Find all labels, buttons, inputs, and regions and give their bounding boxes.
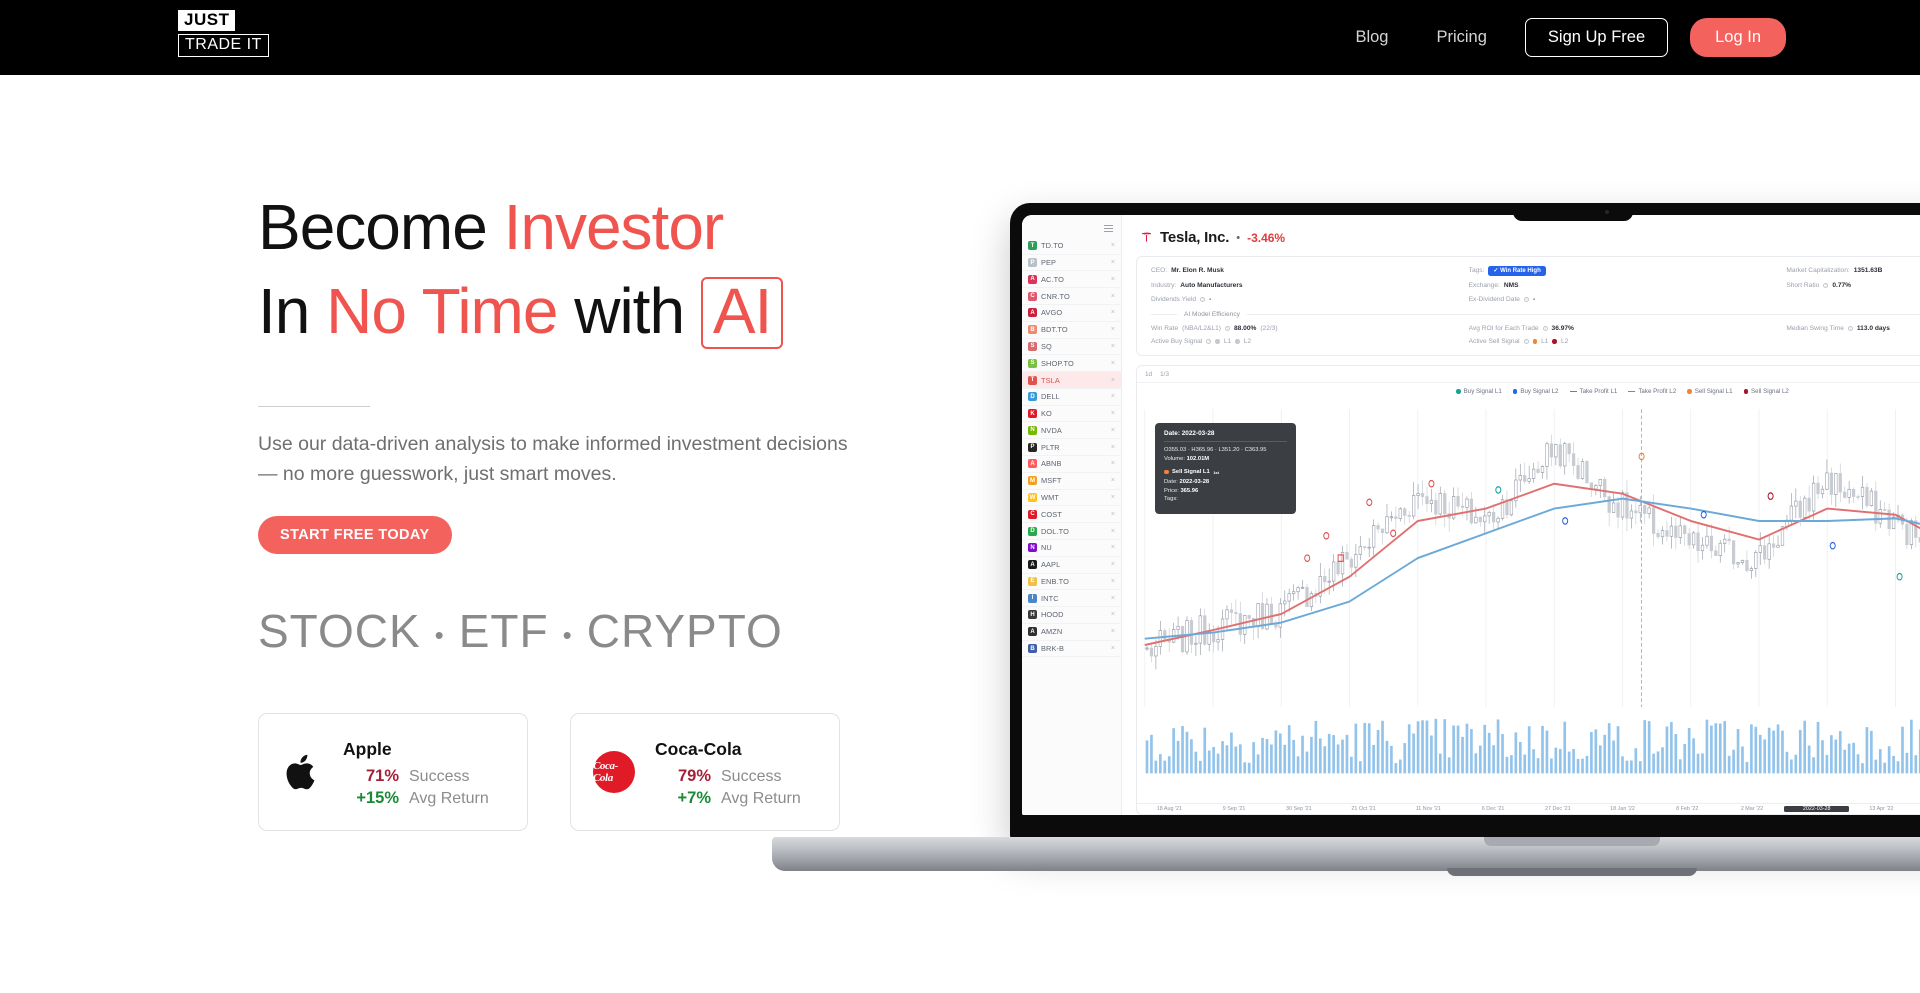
- ticker-logo-icon: K: [1028, 409, 1037, 418]
- legend-item-sell-signal-l1[interactable]: Sell Signal L1: [1687, 388, 1732, 395]
- ex-dividend-date-value: -: [1533, 296, 1535, 303]
- tooltip-signal-date-value: 2022-03-28: [1179, 479, 1209, 485]
- stat-card-title: Apple: [343, 739, 489, 760]
- x-axis-tick: 27 Dec '21: [1525, 806, 1590, 812]
- sidebar-toolbar: [1022, 221, 1121, 238]
- coca-cola-wordmark: Coca-Cola: [593, 760, 635, 784]
- chart-interval-label[interactable]: 1d: [1145, 371, 1152, 378]
- watchlist-item-dol-to[interactable]: DDOL.TO×: [1022, 523, 1121, 540]
- x-axis-tick: 18 Aug '21: [1137, 806, 1202, 812]
- tooltip-volume: Volume: 102.01M: [1164, 456, 1287, 462]
- stat-card-body: Coca-Cola 79% Success +7% Avg Return: [655, 737, 801, 808]
- watchlist-item-shop-to[interactable]: SSHOP.TO×: [1022, 355, 1121, 372]
- page-title: Become Investor In No Time with AI: [258, 195, 878, 349]
- ticker-symbol-label: NVDA: [1041, 426, 1107, 435]
- tooltip-signal-price-label: Price:: [1164, 488, 1179, 494]
- ceo-label: CEO:: [1151, 267, 1167, 274]
- hero-subtitle: Use our data-driven analysis to make inf…: [258, 429, 848, 489]
- bullet-separator-icon: •: [549, 620, 587, 650]
- ai-model-efficiency-heading: AI Model Efficiency: [1151, 311, 1920, 318]
- stat-card-title: Coca-Cola: [655, 739, 801, 760]
- success-value: 71%: [343, 767, 399, 786]
- remove-ticker-icon[interactable]: ×: [1111, 427, 1115, 434]
- watchlist-item-ko[interactable]: KKO×: [1022, 406, 1121, 423]
- ex-dividend-date-field: Ex-Dividend Date ? -: [1469, 296, 1777, 303]
- dashboard-main: Tesla, Inc. • -3.46% CEO: Mr. Elon R. Mu…: [1122, 215, 1920, 815]
- chart-interval-controls: 1d 1/3: [1145, 371, 1169, 378]
- help-icon[interactable]: ?: [1524, 339, 1529, 344]
- watchlist-item-nu[interactable]: NNU×: [1022, 540, 1121, 557]
- win-rate-extra: (22/3): [1260, 325, 1277, 332]
- company-info-grid: CEO: Mr. Elon R. Musk Tags: ✓ Win Rate H…: [1151, 266, 1920, 303]
- success-label: Success: [721, 768, 781, 786]
- ticker-logo-icon: P: [1028, 258, 1037, 267]
- remove-ticker-icon[interactable]: ×: [1111, 595, 1115, 602]
- ticker-logo-icon: D: [1028, 392, 1037, 401]
- legend-label: Take Profit L2: [1638, 388, 1676, 395]
- watchlist-item-sq[interactable]: SSQ×: [1022, 339, 1121, 356]
- industry-field: Industry: Auto Manufacturers: [1151, 282, 1459, 289]
- tags-field: Tags: ✓ Win Rate High: [1469, 266, 1777, 276]
- laptop-base: [772, 837, 1920, 871]
- start-free-today-button[interactable]: START FREE TODAY: [258, 516, 452, 554]
- ticker-symbol-label: BDT.TO: [1041, 325, 1107, 334]
- stat-card-coca-cola[interactable]: Coca-Cola Coca-Cola 79% Success +7% Avg …: [570, 713, 840, 831]
- logo-just-text: JUST: [178, 10, 235, 31]
- tags-label: Tags:: [1469, 267, 1485, 274]
- ticker-logo-icon: T: [1028, 376, 1037, 385]
- ticker-logo-icon: I: [1028, 594, 1037, 603]
- asset-types-list: STOCK•ETF•CRYPTO: [258, 604, 878, 658]
- ticker-symbol-label: HOOD: [1041, 610, 1107, 619]
- tesla-logo-icon: [1140, 231, 1153, 244]
- ticker-logo-icon: B: [1028, 325, 1037, 334]
- stat-card-apple[interactable]: Apple 71% Success +15% Avg Return: [258, 713, 528, 831]
- ticker-symbol-label: KO: [1041, 409, 1107, 418]
- remove-ticker-icon[interactable]: ×: [1111, 544, 1115, 551]
- watchlist-item-msft[interactable]: MMSFT×: [1022, 473, 1121, 490]
- ticker-symbol-label: TD.TO: [1041, 241, 1107, 250]
- ticker-logo-icon: S: [1028, 342, 1037, 351]
- ceo-value: Mr. Elon R. Musk: [1171, 267, 1224, 274]
- legend-item-buy-signal-l1[interactable]: Buy Signal L1: [1456, 388, 1502, 395]
- watchlist-item-pltr[interactable]: PPLTR×: [1022, 439, 1121, 456]
- headline-line-2-plain-b: with: [557, 275, 700, 347]
- tooltip-signal-date-row: Date: 2022-03-28: [1164, 479, 1287, 485]
- remove-ticker-icon[interactable]: ×: [1111, 393, 1115, 400]
- short-ratio-label: Short Ratio: [1786, 282, 1819, 289]
- legend-marker-icon: [1628, 391, 1635, 393]
- ticker-symbol-label: SHOP.TO: [1041, 359, 1107, 368]
- ticker-logo-icon: C: [1028, 510, 1037, 519]
- sell-signal-l1-label: L1: [1541, 338, 1548, 345]
- watchlist-item-amzn[interactable]: AAMZN×: [1022, 624, 1121, 641]
- remove-ticker-icon[interactable]: ×: [1111, 343, 1115, 350]
- industry-value: Auto Manufacturers: [1180, 282, 1242, 289]
- watchlist-item-abnb[interactable]: AABNB×: [1022, 456, 1121, 473]
- tooltip-signal-label: Sell Signal L1: [1172, 469, 1210, 475]
- ticker-symbol-label: AMZN: [1041, 627, 1107, 636]
- x-axis-tick: 13 Apr '22: [1849, 806, 1914, 812]
- bullet-separator-icon: •: [421, 620, 459, 650]
- nav-link-pricing[interactable]: Pricing: [1412, 0, 1510, 75]
- help-icon[interactable]: ?: [1225, 326, 1230, 331]
- watchlist-item-aapl[interactable]: AAAPL×: [1022, 557, 1121, 574]
- price-chart-card: 1d 1/3 ✛ ▣ ⟳ Light Buy Signal L1Buy Sign…: [1136, 365, 1920, 815]
- laptop-mockup: TTD.TO×PPEP×AAC.TO×CCNR.TO×AAVGO×BBDT.TO…: [1010, 203, 1920, 841]
- help-icon[interactable]: ?: [1206, 339, 1211, 344]
- tooltip-signal-price-value: 365.96: [1180, 488, 1198, 494]
- nav-link-blog[interactable]: Blog: [1331, 0, 1412, 75]
- industry-label: Industry:: [1151, 282, 1176, 289]
- remove-ticker-icon[interactable]: ×: [1111, 326, 1115, 333]
- legend-label: Buy Signal L2: [1520, 388, 1558, 395]
- ticker-logo-icon: S: [1028, 359, 1037, 368]
- headline-line-1-plain: Become: [258, 191, 504, 263]
- exchange-value: NMS: [1504, 282, 1519, 289]
- x-axis-tick: 18 Jan '22: [1590, 806, 1655, 812]
- ticker-symbol-label: PEP: [1041, 258, 1107, 267]
- help-icon[interactable]: ?: [1848, 326, 1853, 331]
- success-value: 79%: [655, 767, 711, 786]
- median-swing-time-value: 113.0 days: [1857, 325, 1890, 332]
- watchlist-item-ac-to[interactable]: AAC.TO×: [1022, 271, 1121, 288]
- chart-x-axis: 18 Aug '219 Sep '2130 Sep '2121 Oct '211…: [1137, 803, 1920, 814]
- x-axis-tick: 5 May '22: [1914, 806, 1920, 812]
- active-buy-signal-label: Active Buy Signal: [1151, 338, 1202, 345]
- ticker-symbol-label: SQ: [1041, 342, 1107, 351]
- legend-item-take-profit-l1[interactable]: Take Profit L1: [1570, 388, 1618, 395]
- success-stat-row: 71% Success: [343, 767, 489, 786]
- ceo-field: CEO: Mr. Elon R. Musk: [1151, 266, 1459, 276]
- apple-icon: [279, 749, 325, 795]
- remove-ticker-icon[interactable]: ×: [1111, 628, 1115, 635]
- ticker-logo-icon: A: [1028, 627, 1037, 636]
- ticker-symbol-label: BRK-B: [1041, 644, 1107, 653]
- x-axis-tick: 2 Mar '22: [1720, 806, 1785, 812]
- hero-divider: [258, 406, 370, 407]
- x-axis-tick: 8 Feb '22: [1655, 806, 1720, 812]
- ticker-logo-icon: H: [1028, 610, 1037, 619]
- legend-label: Sell Signal L1: [1695, 388, 1733, 395]
- watchlist-item-hood[interactable]: HHOOD×: [1022, 607, 1121, 624]
- market-cap-field: Market Capitalization: 1351.63B: [1786, 266, 1920, 276]
- ticker-symbol-label: WMT: [1041, 493, 1107, 502]
- ex-dividend-date-label: Ex-Dividend Date: [1469, 296, 1520, 303]
- tooltip-volume-label: Volume:: [1164, 456, 1185, 462]
- ticker-symbol-label: INTC: [1041, 594, 1107, 603]
- help-icon[interactable]: ?: [1524, 297, 1529, 302]
- list-menu-icon[interactable]: [1104, 225, 1113, 232]
- headline-line-2-plain-a: In: [258, 275, 326, 347]
- tooltip-signal-heading: Sell Signal L1 1st: [1164, 469, 1287, 475]
- watchlist-item-nvda[interactable]: NNVDA×: [1022, 422, 1121, 439]
- ticker-symbol-label: TSLA: [1041, 376, 1107, 385]
- watchlist-item-cnr-to[interactable]: CCNR.TO×: [1022, 288, 1121, 305]
- asset-type-etf: ETF: [459, 605, 549, 657]
- legend-item-buy-signal-l2[interactable]: Buy Signal L2: [1513, 388, 1559, 395]
- help-icon[interactable]: ?: [1823, 283, 1828, 288]
- headline-line-1-accent: Investor: [504, 191, 724, 263]
- chart-compare-label[interactable]: 1/3: [1160, 371, 1169, 378]
- dashboard-title: Tesla, Inc.: [1160, 229, 1229, 246]
- remove-ticker-icon[interactable]: ×: [1111, 309, 1115, 316]
- buy-signal-l1-label: L1: [1224, 338, 1231, 345]
- remove-ticker-icon[interactable]: ×: [1111, 494, 1115, 501]
- ticker-symbol-label: ABNB: [1041, 459, 1107, 468]
- legend-marker-icon: [1513, 389, 1518, 394]
- ticker-symbol-label: AC.TO: [1041, 275, 1107, 284]
- hero-section: Become Investor In No Time with AI Use o…: [258, 195, 878, 831]
- remove-ticker-icon[interactable]: ×: [1111, 259, 1115, 266]
- x-axis-tick: 30 Sep '21: [1266, 806, 1331, 812]
- ticker-logo-icon: C: [1028, 292, 1037, 301]
- median-swing-time-label: Median Swing Time: [1786, 325, 1844, 332]
- buy-signal-l2-dot-icon: [1235, 339, 1240, 344]
- watchlist-item-tsla[interactable]: TTSLA×: [1022, 372, 1121, 389]
- nav-actions: Blog Pricing Sign Up Free Log In: [1331, 0, 1786, 75]
- watchlist-rows: TTD.TO×PPEP×AAC.TO×CCNR.TO×AAVGO×BBDT.TO…: [1022, 238, 1121, 658]
- ticker-symbol-label: PLTR: [1041, 443, 1107, 452]
- x-axis-tick: 21 Oct '21: [1331, 806, 1396, 812]
- asset-type-stock: STOCK: [258, 605, 421, 657]
- success-label: Success: [409, 768, 469, 786]
- watchlist-item-wmt[interactable]: WWMT×: [1022, 490, 1121, 507]
- dashboard-screen: TTD.TO×PPEP×AAC.TO×CCNR.TO×AAVGO×BBDT.TO…: [1022, 215, 1920, 815]
- ticker-logo-icon: N: [1028, 426, 1037, 435]
- remove-ticker-icon[interactable]: ×: [1111, 444, 1115, 451]
- remove-ticker-icon[interactable]: ×: [1111, 460, 1115, 467]
- ticker-symbol-label: NU: [1041, 543, 1107, 552]
- median-swing-time-field: Median Swing Time ? 113.0 days: [1786, 325, 1920, 332]
- headline-line-2-accent: No Time: [326, 275, 557, 347]
- sell-signal-dot-icon: [1164, 470, 1169, 475]
- watchlist-item-dell[interactable]: DDELL×: [1022, 389, 1121, 406]
- dividends-yield-value: -: [1209, 296, 1211, 303]
- remove-ticker-icon[interactable]: ×: [1111, 561, 1115, 568]
- avg-return-label: Avg Return: [409, 790, 489, 808]
- active-sell-signal-label: Active Sell Signal: [1469, 338, 1520, 345]
- help-icon[interactable]: ?: [1543, 326, 1548, 331]
- watchlist-item-pep[interactable]: PPEP×: [1022, 255, 1121, 272]
- avg-return-stat-row: +7% Avg Return: [655, 789, 801, 808]
- ticker-symbol-label: AVGO: [1041, 308, 1107, 317]
- coca-cola-circle: Coca-Cola: [593, 751, 635, 793]
- stat-cards-row: Apple 71% Success +15% Avg Return Coca-C…: [258, 713, 878, 831]
- ticker-symbol-label: AAPL: [1041, 560, 1107, 569]
- ticker-logo-icon: P: [1028, 443, 1037, 452]
- tooltip-volume-value: 102.01M: [1187, 456, 1210, 462]
- win-rate-value: 88.00%: [1234, 325, 1256, 332]
- legend-marker-icon: [1687, 389, 1692, 394]
- sell-signal-l2-dot-icon: [1552, 339, 1557, 344]
- dashboard-header: Tesla, Inc. • -3.46%: [1122, 215, 1920, 256]
- watchlist-item-intc[interactable]: IINTC×: [1022, 590, 1121, 607]
- remove-ticker-icon[interactable]: ×: [1111, 360, 1115, 367]
- ticker-symbol-label: DOL.TO: [1041, 527, 1107, 536]
- x-axis-tick: 6 Dec '21: [1461, 806, 1526, 812]
- legend-marker-icon: [1744, 389, 1749, 394]
- watchlist-item-enb-to[interactable]: EENB.TO×: [1022, 574, 1121, 591]
- watchlist-item-cost[interactable]: CCOST×: [1022, 506, 1121, 523]
- coca-cola-icon: Coca-Cola: [591, 749, 637, 795]
- legend-marker-icon: [1570, 391, 1577, 393]
- ticker-logo-icon: A: [1028, 275, 1037, 284]
- info-empty-cell: [1786, 338, 1920, 345]
- company-info-card: CEO: Mr. Elon R. Musk Tags: ✓ Win Rate H…: [1136, 256, 1920, 356]
- logo-trade-it-text: TRADE IT: [178, 34, 269, 57]
- avg-roi-label: Avg ROI for Each Trade: [1469, 325, 1539, 332]
- headline-ai-badge: AI: [701, 277, 783, 349]
- top-navigation-bar: JUST TRADE IT Blog Pricing Sign Up Free …: [0, 0, 1920, 75]
- ticker-symbol-label: CNR.TO: [1041, 292, 1107, 301]
- active-sell-signal-field: Active Sell Signal ? L1 L2: [1469, 338, 1777, 345]
- legend-label: Take Profit L1: [1580, 388, 1618, 395]
- exchange-field: Exchange: NMS: [1469, 282, 1777, 289]
- ticker-logo-icon: E: [1028, 577, 1037, 586]
- ticker-symbol-label: ENB.TO: [1041, 577, 1107, 586]
- short-ratio-value: 0.77%: [1832, 282, 1851, 289]
- remove-ticker-icon[interactable]: ×: [1111, 377, 1115, 384]
- ticker-logo-icon: D: [1028, 527, 1037, 536]
- legend-label: Sell Signal L2: [1751, 388, 1789, 395]
- x-axis-tick: 11 Nov '21: [1396, 806, 1461, 812]
- info-empty-cell: [1786, 296, 1920, 303]
- dividends-yield-label: Dividends Yield: [1151, 296, 1196, 303]
- sign-up-free-button[interactable]: Sign Up Free: [1525, 18, 1668, 57]
- tooltip-ohlc: O355.03 · H365.96 · L351.20 · C363.95: [1164, 447, 1287, 453]
- ticker-logo-icon: B: [1028, 644, 1037, 653]
- win-rate-field: Win Rate (NBA/L2&L1) ? 88.00% (22/3): [1151, 325, 1459, 332]
- avg-roi-field: Avg ROI for Each Trade ? 36.97%: [1469, 325, 1777, 332]
- ai-model-efficiency-label: AI Model Efficiency: [1184, 311, 1240, 318]
- site-logo[interactable]: JUST TRADE IT: [178, 10, 269, 57]
- log-in-button[interactable]: Log In: [1690, 18, 1786, 57]
- market-cap-label: Market Capitalization:: [1786, 267, 1849, 274]
- ticker-symbol-label: DELL: [1041, 392, 1107, 401]
- sell-signal-l2-label: L2: [1561, 338, 1568, 345]
- legend-item-sell-signal-l2[interactable]: Sell Signal L2: [1744, 388, 1789, 395]
- win-rate-sub: (NBA/L2&L1): [1182, 325, 1221, 332]
- tooltip-signal-price-row: Price: 365.96: [1164, 488, 1287, 494]
- asset-type-crypto: CRYPTO: [587, 605, 783, 657]
- chart-toolbar: 1d 1/3 ✛ ▣ ⟳ Light: [1137, 366, 1920, 383]
- remove-ticker-icon[interactable]: ×: [1111, 645, 1115, 652]
- status-badge[interactable]: ✓ Win Rate High: [1488, 266, 1545, 276]
- watchlist-item-avgo[interactable]: AAVGO×: [1022, 305, 1121, 322]
- legend-marker-icon: [1456, 389, 1461, 394]
- market-cap-value: 1351.63B: [1854, 267, 1883, 274]
- ticker-logo-icon: W: [1028, 493, 1037, 502]
- watchlist-item-brk-b[interactable]: BBRK-B×: [1022, 641, 1121, 658]
- ticker-logo-icon: A: [1028, 308, 1037, 317]
- tooltip-signal-date-label: Date:: [1164, 479, 1178, 485]
- remove-ticker-icon[interactable]: ×: [1111, 578, 1115, 585]
- remove-ticker-icon[interactable]: ×: [1111, 528, 1115, 535]
- laptop-camera-notch: [1513, 203, 1633, 221]
- help-icon[interactable]: ?: [1200, 297, 1205, 302]
- ticker-symbol-label: COST: [1041, 510, 1107, 519]
- buy-signal-l2-label: L2: [1244, 338, 1251, 345]
- remove-ticker-icon[interactable]: ×: [1111, 511, 1115, 518]
- win-rate-label: Win Rate: [1151, 325, 1178, 332]
- chart-legend: Buy Signal L1Buy Signal L2Take Profit L1…: [1137, 383, 1920, 397]
- avg-roi-value: 36.97%: [1552, 325, 1574, 332]
- success-stat-row: 79% Success: [655, 767, 801, 786]
- legend-label: Buy Signal L1: [1464, 388, 1502, 395]
- ticker-logo-icon: T: [1028, 241, 1037, 250]
- avg-return-value: +15%: [343, 789, 399, 808]
- tooltip-date-title: Date: 2022-03-28: [1164, 430, 1287, 442]
- avg-return-stat-row: +15% Avg Return: [343, 789, 489, 808]
- dashboard-price-change: -3.46%: [1247, 231, 1285, 245]
- active-buy-signal-field: Active Buy Signal ? L1 L2: [1151, 338, 1459, 345]
- legend-item-take-profit-l2[interactable]: Take Profit L2: [1628, 388, 1676, 395]
- tooltip-signal-ordinal: 1st: [1213, 470, 1219, 475]
- exchange-label: Exchange:: [1469, 282, 1500, 289]
- x-axis-tick: 9 Sep '21: [1202, 806, 1267, 812]
- ticker-logo-icon: A: [1028, 560, 1037, 569]
- remove-ticker-icon[interactable]: ×: [1111, 242, 1115, 249]
- sell-signal-l1-dot-icon: [1533, 339, 1538, 344]
- buy-signal-l1-dot-icon: [1215, 339, 1220, 344]
- chart-plot-area[interactable]: Date: 2022-03-28 O355.03 · H365.96 · L35…: [1137, 397, 1920, 803]
- ai-efficiency-grid: Win Rate (NBA/L2&L1) ? 88.00% (22/3) Avg…: [1151, 325, 1920, 346]
- remove-ticker-icon[interactable]: ×: [1111, 410, 1115, 417]
- ticker-logo-icon: M: [1028, 476, 1037, 485]
- remove-ticker-icon[interactable]: ×: [1111, 477, 1115, 484]
- watchlist-sidebar: TTD.TO×PPEP×AAC.TO×CCNR.TO×AAVGO×BBDT.TO…: [1022, 215, 1122, 815]
- avg-return-label: Avg Return: [721, 790, 801, 808]
- laptop-lid: TTD.TO×PPEP×AAC.TO×CCNR.TO×AAVGO×BBDT.TO…: [1010, 203, 1920, 841]
- dashboard-separator: •: [1236, 232, 1240, 244]
- laptop-base-notch: [1484, 837, 1660, 846]
- ticker-symbol-label: MSFT: [1041, 476, 1107, 485]
- chart-tooltip: Date: 2022-03-28 O355.03 · H365.96 · L35…: [1155, 423, 1296, 514]
- short-ratio-field: Short Ratio ? 0.77%: [1786, 282, 1920, 289]
- dividends-yield-field: Dividends Yield ? -: [1151, 296, 1459, 303]
- remove-ticker-icon[interactable]: ×: [1111, 276, 1115, 283]
- avg-return-value: +7%: [655, 789, 711, 808]
- ticker-logo-icon: N: [1028, 543, 1037, 552]
- watchlist-item-bdt-to[interactable]: BBDT.TO×: [1022, 322, 1121, 339]
- ticker-logo-icon: A: [1028, 459, 1037, 468]
- remove-ticker-icon[interactable]: ×: [1111, 611, 1115, 618]
- x-axis-tick: 2022-03-28: [1784, 806, 1849, 812]
- watchlist-item-td-to[interactable]: TTD.TO×: [1022, 238, 1121, 255]
- remove-ticker-icon[interactable]: ×: [1111, 293, 1115, 300]
- tooltip-tags-row: Tags:: [1164, 496, 1287, 502]
- stat-card-body: Apple 71% Success +15% Avg Return: [343, 737, 489, 808]
